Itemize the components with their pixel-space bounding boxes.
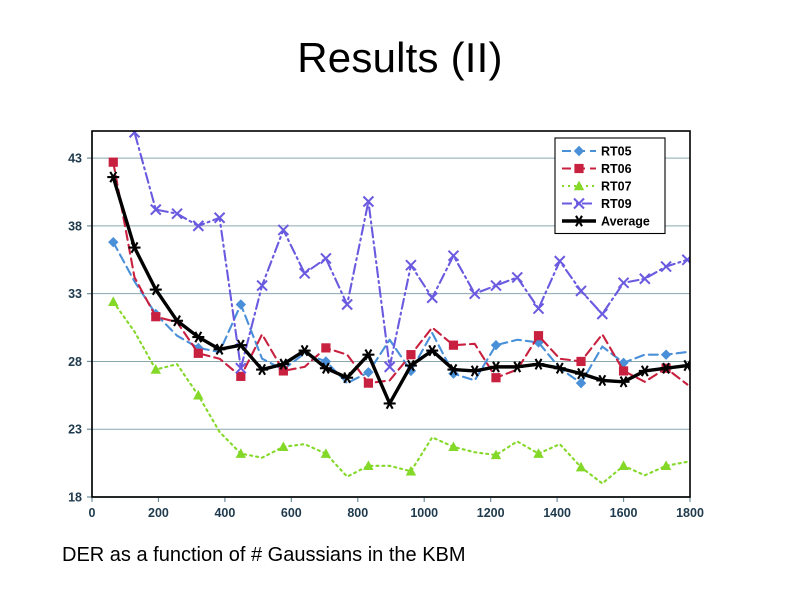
- legend-label: RT07: [601, 180, 632, 194]
- data-point: [406, 350, 415, 359]
- x-axis-tick-label: 600: [281, 506, 302, 520]
- x-axis-tick-label: 1800: [676, 506, 704, 520]
- x-axis-tick-label: 800: [347, 506, 368, 520]
- data-point: [576, 357, 585, 366]
- data-point: [194, 349, 203, 358]
- y-axis-tick-label: 28: [68, 355, 82, 369]
- legend-swatch-marker: [574, 164, 583, 173]
- data-point: [491, 373, 500, 382]
- data-point: [321, 343, 330, 352]
- legend-label: Average: [601, 215, 650, 229]
- y-axis-tick-label: 18: [68, 491, 82, 505]
- x-axis-tick-label: 400: [214, 506, 235, 520]
- chart-container: 1823283338430200400600800100012001400160…: [0, 110, 800, 530]
- legend-label: RT06: [601, 162, 632, 176]
- slide-canvas: Results (II) 182328333843020040060080010…: [0, 0, 800, 599]
- data-point: [364, 379, 373, 388]
- line-chart: 1823283338430200400600800100012001400160…: [0, 110, 800, 530]
- y-axis-tick-label: 38: [68, 219, 82, 233]
- x-axis-tick-label: 1600: [610, 506, 638, 520]
- y-axis-tick-label: 43: [68, 152, 82, 166]
- chart-caption: DER as a function of # Gaussians in the …: [62, 541, 466, 569]
- y-axis-tick-label: 33: [68, 287, 82, 301]
- data-point: [109, 158, 118, 167]
- x-axis-tick-label: 1200: [477, 506, 505, 520]
- x-axis-tick-label: 200: [148, 506, 169, 520]
- legend-label: RT05: [601, 145, 632, 159]
- data-point: [619, 366, 628, 375]
- legend-label: RT09: [601, 197, 632, 211]
- data-point: [236, 372, 245, 381]
- x-axis-tick-label: 0: [89, 506, 96, 520]
- x-axis-tick-label: 1000: [410, 506, 438, 520]
- page-title: Results (II): [0, 32, 800, 84]
- chart-legend: RT05RT06RT07RT09Average: [555, 138, 665, 234]
- data-point: [534, 331, 543, 340]
- y-axis-tick-label: 23: [68, 423, 82, 437]
- data-point: [151, 312, 160, 321]
- x-axis-tick-label: 1400: [543, 506, 571, 520]
- data-point: [449, 341, 458, 350]
